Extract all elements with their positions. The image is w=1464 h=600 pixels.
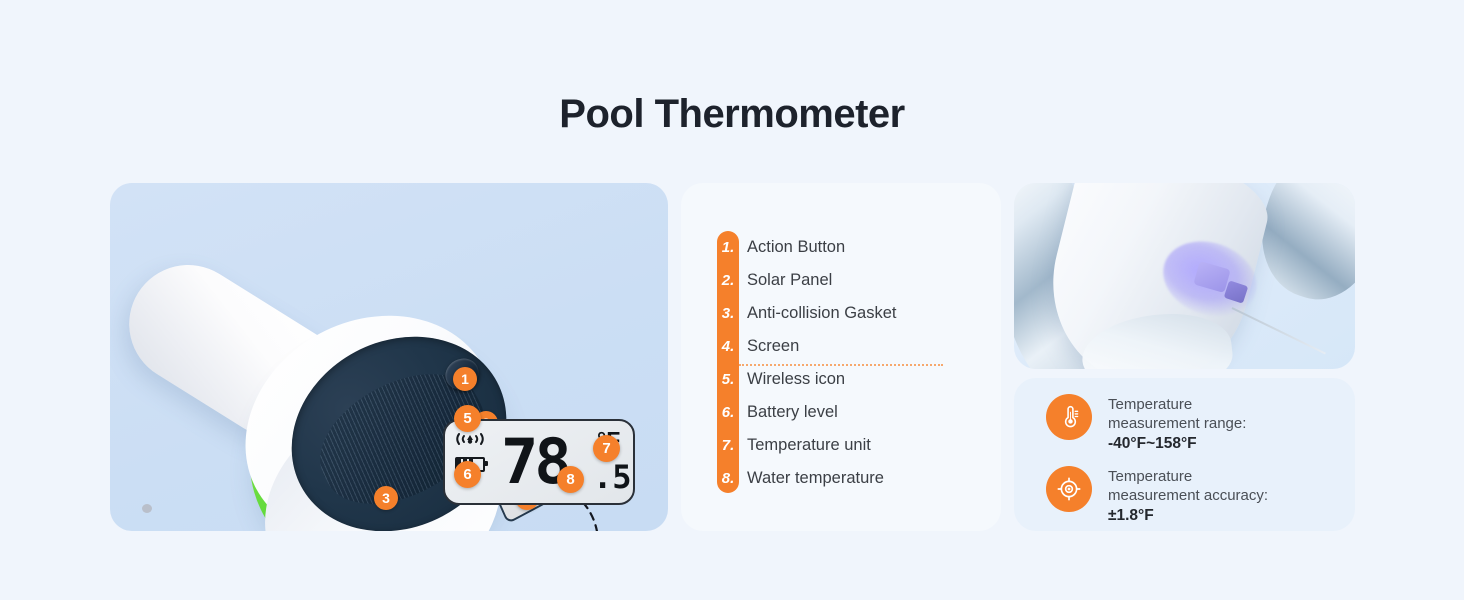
water-temperature-decimal: .5: [593, 461, 632, 493]
spec-line-1: Temperature: [1108, 395, 1246, 414]
legend-label: Screen: [747, 337, 799, 356]
legend-number: 3.: [717, 305, 739, 322]
legend-item-solar-panel: 2. Solar Panel: [681, 264, 1001, 297]
legend-label: Anti-collision Gasket: [747, 304, 896, 323]
legend-label: Water temperature: [747, 469, 884, 488]
legend-number: 5.: [717, 371, 739, 388]
callout-badge-1: 1: [453, 367, 477, 391]
legend-divider: [739, 364, 943, 366]
legend-number: 7.: [717, 437, 739, 454]
thermometer-icon: [1046, 394, 1092, 440]
legend-label: Battery level: [747, 403, 838, 422]
callout-badge-6: 6: [454, 461, 481, 488]
specifications-card: Temperature measurement range: -40°F~158…: [1014, 378, 1355, 531]
callout-badge-5: 5: [454, 405, 481, 432]
callout-badge-7: 7: [593, 435, 620, 462]
sensor-closeup-photo: [1014, 183, 1355, 369]
spec-temperature-accuracy: Temperature measurement accuracy: ±1.8°F: [1046, 466, 1268, 526]
product-illustration-card: ((•)) 78 °F 1 2 3 4 78 .5 °F: [110, 183, 668, 531]
wireless-signal-icon: [455, 431, 485, 447]
legend-list: 1. Action Button 2. Solar Panel 3. Anti-…: [681, 231, 1001, 495]
legend-number: 1.: [717, 239, 739, 256]
legend-item-water-temperature: 8. Water temperature: [681, 462, 1001, 495]
legend-item-screen: 4. Screen: [681, 330, 1001, 363]
sensor-probe-wire: [1232, 307, 1326, 354]
legend-item-action-button: 1. Action Button: [681, 231, 1001, 264]
legend-item-anti-collision-gasket: 3. Anti-collision Gasket: [681, 297, 1001, 330]
spec-line-1: Temperature: [1108, 467, 1268, 486]
legend-item-battery-level: 6. Battery level: [681, 396, 1001, 429]
legend-card: 1. Action Button 2. Solar Panel 3. Anti-…: [681, 183, 1001, 531]
spec-line-2: measurement accuracy:: [1108, 486, 1268, 505]
callout-badge-3: 3: [374, 486, 398, 510]
spec-value: -40°F~158°F: [1108, 433, 1246, 454]
legend-label: Temperature unit: [747, 436, 871, 455]
callout-badge-8: 8: [557, 466, 584, 493]
legend-label: Solar Panel: [747, 271, 832, 290]
water-temperature-value: 78: [501, 425, 568, 499]
legend-item-wireless-icon: 5. Wireless icon: [681, 363, 1001, 396]
page-title: Pool Thermometer: [0, 92, 1464, 137]
legend-number: 6.: [717, 404, 739, 421]
legend-number: 8.: [717, 470, 739, 487]
legend-number: 4.: [717, 338, 739, 355]
spec-temperature-range: Temperature measurement range: -40°F~158…: [1046, 394, 1246, 454]
target-accuracy-icon: [1046, 466, 1092, 512]
legend-item-temperature-unit: 7. Temperature unit: [681, 429, 1001, 462]
legend-number: 2.: [717, 272, 739, 289]
spec-line-2: measurement range:: [1108, 414, 1246, 433]
sensor-closeup-photo-card: [1014, 183, 1355, 369]
legend-label: Action Button: [747, 238, 845, 257]
legend-label: Wireless icon: [747, 370, 845, 389]
spec-value: ±1.8°F: [1108, 505, 1268, 526]
probe-tip-sensor: [142, 504, 152, 513]
